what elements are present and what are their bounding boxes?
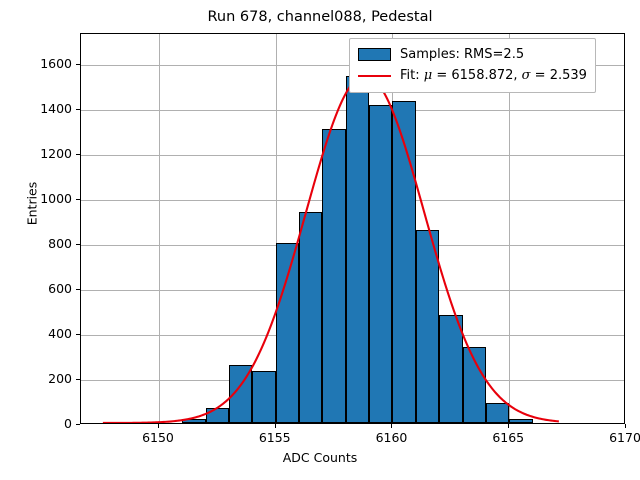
legend-label-samples: Samples: RMS=2.5 xyxy=(400,47,524,62)
y-tick-mark xyxy=(76,109,80,110)
x-tick-mark xyxy=(158,424,159,428)
y-tick-label: 0 xyxy=(12,416,72,431)
page-title: Run 678, channel088, Pedestal xyxy=(0,9,640,25)
x-tick-label: 6170 xyxy=(590,430,640,445)
y-tick-label: 600 xyxy=(12,281,72,296)
y-tick-label: 200 xyxy=(12,371,72,386)
x-tick-mark xyxy=(275,424,276,428)
y-tick-mark xyxy=(76,334,80,335)
y-tick-mark xyxy=(76,64,80,65)
x-axis-label: ADC Counts xyxy=(0,450,640,465)
x-tick-mark xyxy=(625,424,626,428)
x-tick-mark xyxy=(508,424,509,428)
y-tick-mark xyxy=(76,424,80,425)
legend-label-fit: Fit: μ = 6158.872, σ = 2.539 xyxy=(400,68,587,83)
x-tick-label: 6160 xyxy=(356,430,426,445)
y-tick-mark xyxy=(76,289,80,290)
y-tick-mark xyxy=(76,379,80,380)
y-tick-label: 1000 xyxy=(12,191,72,206)
y-tick-mark xyxy=(76,154,80,155)
y-tick-label: 1400 xyxy=(12,101,72,116)
y-tick-label: 1200 xyxy=(12,146,72,161)
x-tick-mark xyxy=(391,424,392,428)
legend-line-icon xyxy=(358,75,391,77)
gaussian-fit-line xyxy=(103,75,559,423)
y-tick-mark xyxy=(76,199,80,200)
legend-item-samples: Samples: RMS=2.5 xyxy=(358,44,587,65)
x-tick-label: 6150 xyxy=(123,430,193,445)
y-tick-mark xyxy=(76,244,80,245)
y-axis-label: Entries xyxy=(25,124,40,284)
y-tick-label: 400 xyxy=(12,326,72,341)
figure-canvas: Run 678, channel088, Pedestal 6150615561… xyxy=(0,0,640,480)
legend-item-fit: Fit: μ = 6158.872, σ = 2.539 xyxy=(358,65,587,86)
x-tick-label: 6165 xyxy=(473,430,543,445)
legend-patch-icon xyxy=(358,48,391,61)
y-tick-label: 800 xyxy=(12,236,72,251)
legend: Samples: RMS=2.5 Fit: μ = 6158.872, σ = … xyxy=(349,38,596,93)
x-tick-label: 6155 xyxy=(240,430,310,445)
y-tick-label: 1600 xyxy=(12,56,72,71)
